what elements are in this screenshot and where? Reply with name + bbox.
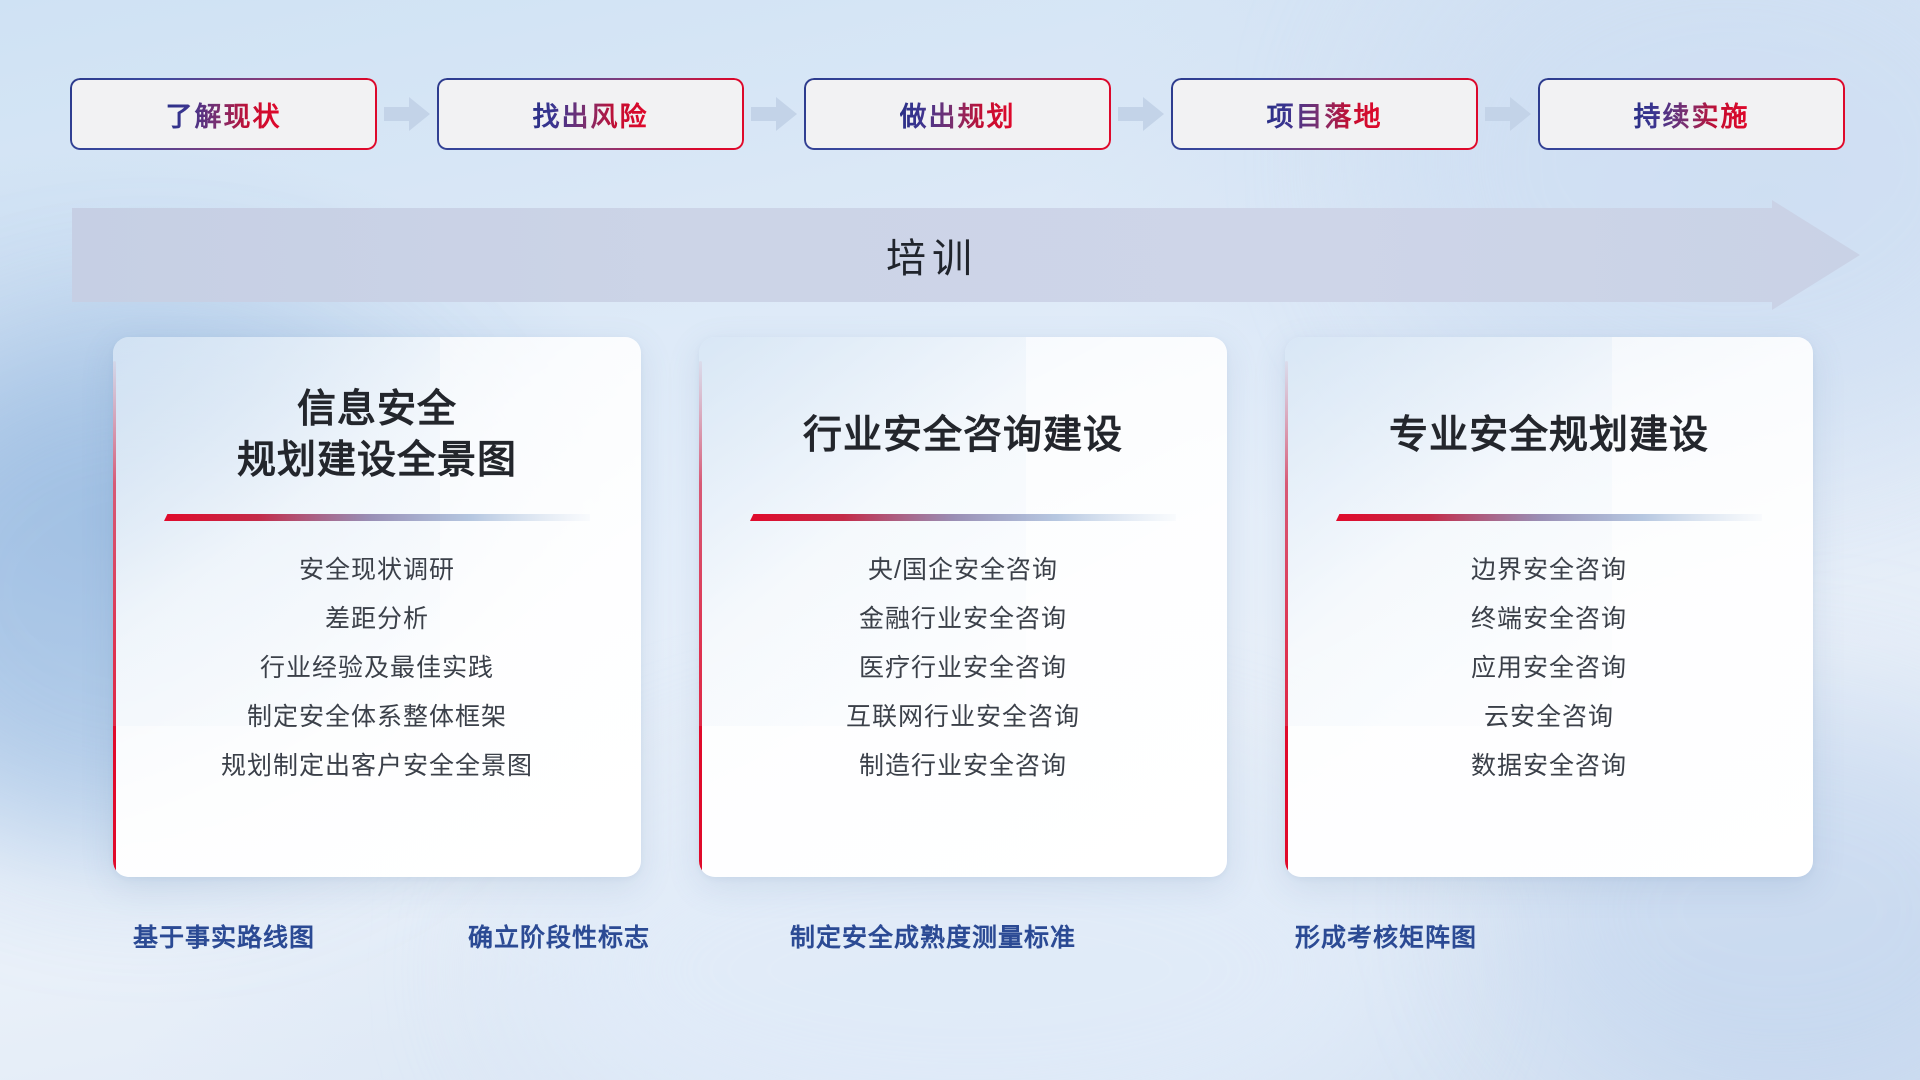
step-chip-label: 持续实施	[1634, 95, 1750, 134]
step-chip-label: 了解现状	[166, 95, 282, 134]
step-chip-label: 找出风险	[533, 95, 649, 134]
card-title-line: 专业安全规划建设	[1389, 411, 1709, 462]
step-arrow-icon-1	[377, 78, 437, 150]
gradient-divider-icon	[1336, 511, 1762, 529]
slide-canvas: 了解现状 找出风险 做出规划 项目落地	[0, 0, 1920, 1080]
caption-maturity: 制定安全成熟度测量标准	[790, 918, 1076, 954]
list-item: 应用安全咨询	[1471, 653, 1627, 683]
list-item: 互联网行业安全咨询	[846, 702, 1080, 732]
step-chip-label: 做出规划	[900, 95, 1016, 134]
list-item: 医疗行业安全咨询	[859, 653, 1067, 683]
step-chip-5[interactable]: 持续实施	[1538, 78, 1845, 150]
list-item: 规划制定出客户安全全景图	[221, 751, 533, 781]
step-chip-4[interactable]: 项目落地	[1171, 78, 1478, 150]
step-chip-3[interactable]: 做出规划	[804, 78, 1111, 150]
card-information-security-blueprint[interactable]: 信息安全 规划建设全景图	[113, 337, 641, 877]
caption-milestone: 确立阶段性标志	[468, 918, 650, 954]
card-item-list: 安全现状调研 差距分析 行业经验及最佳实践 制定安全体系整体框架 规划制定出客户…	[135, 555, 619, 781]
card-title-line: 信息安全	[237, 385, 517, 436]
list-item: 制定安全体系整体框架	[247, 702, 507, 732]
gradient-divider-icon	[164, 511, 590, 529]
process-steps-row: 了解现状 找出风险 做出规划 项目落地	[70, 78, 1860, 150]
card-item-list: 央/国企安全咨询 金融行业安全咨询 医疗行业安全咨询 互联网行业安全咨询 制造行…	[721, 555, 1205, 781]
card-title-line: 行业安全咨询建设	[803, 411, 1123, 462]
card-professional-security-planning[interactable]: 专业安全规划建设	[1285, 337, 1813, 877]
list-item: 数据安全咨询	[1471, 751, 1627, 781]
card-title: 专业安全规划建设	[1389, 383, 1709, 489]
card-title-line: 规划建设全景图	[237, 436, 517, 487]
card-industry-security-consulting[interactable]: 行业安全咨询建设	[699, 337, 1227, 877]
step-arrow-icon-2	[744, 78, 804, 150]
banner-title: 培训	[72, 200, 1792, 310]
list-item: 边界安全咨询	[1471, 555, 1627, 585]
list-item: 差距分析	[325, 604, 429, 634]
card-accent-bar	[113, 361, 116, 877]
card-title: 行业安全咨询建设	[803, 383, 1123, 489]
caption-matrix: 形成考核矩阵图	[1295, 918, 1477, 954]
list-item: 安全现状调研	[299, 555, 455, 585]
card-accent-bar	[1285, 361, 1288, 877]
list-item: 云安全咨询	[1484, 702, 1614, 732]
list-item: 金融行业安全咨询	[859, 604, 1067, 634]
list-item: 制造行业安全咨询	[859, 751, 1067, 781]
step-chip-label: 项目落地	[1267, 95, 1383, 134]
cards-row: 信息安全 规划建设全景图	[113, 337, 1813, 877]
captions-row: 基于事实路线图 确立阶段性标志 制定安全成熟度测量标准 形成考核矩阵图	[0, 918, 1920, 964]
card-accent-bar	[699, 361, 702, 877]
step-chip-1[interactable]: 了解现状	[70, 78, 377, 150]
training-banner: 培训	[72, 200, 1860, 310]
step-chip-2[interactable]: 找出风险	[437, 78, 744, 150]
step-arrow-icon-3	[1111, 78, 1171, 150]
step-arrow-icon-4	[1478, 78, 1538, 150]
card-title: 信息安全 规划建设全景图	[237, 383, 517, 489]
list-item: 央/国企安全咨询	[868, 555, 1058, 585]
gradient-divider-icon	[750, 511, 1176, 529]
list-item: 行业经验及最佳实践	[260, 653, 494, 683]
card-item-list: 边界安全咨询 终端安全咨询 应用安全咨询 云安全咨询 数据安全咨询	[1307, 555, 1791, 781]
list-item: 终端安全咨询	[1471, 604, 1627, 634]
caption-roadmap: 基于事实路线图	[133, 918, 315, 954]
